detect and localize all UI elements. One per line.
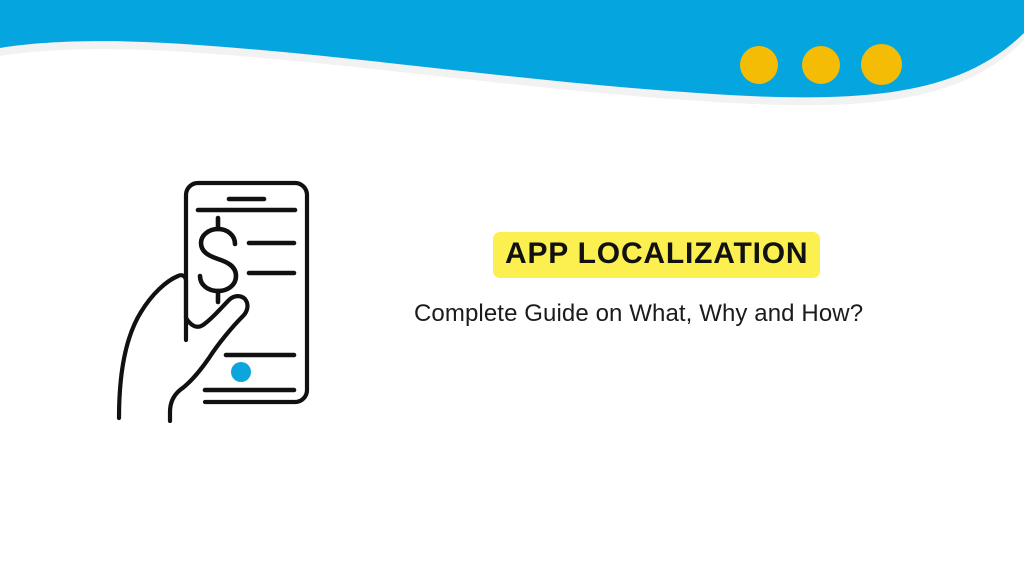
page-subtitle: Complete Guide on What, Why and How?	[414, 299, 934, 329]
text-block: APP LOCALIZATION Complete Guide on What,…	[414, 232, 934, 329]
yellow-dot-1	[740, 46, 778, 84]
yellow-dot-2	[802, 46, 840, 84]
yellow-dot-3	[861, 44, 902, 85]
page-title-wrapper: APP LOCALIZATION	[414, 232, 934, 278]
dollar-sign-glyph	[200, 229, 236, 291]
page-title: APP LOCALIZATION	[493, 232, 820, 278]
banner-canvas: APP LOCALIZATION Complete Guide on What,…	[0, 0, 1024, 577]
blue-dot-accent	[231, 362, 251, 382]
hand-holding-phone-illustration	[108, 168, 333, 423]
